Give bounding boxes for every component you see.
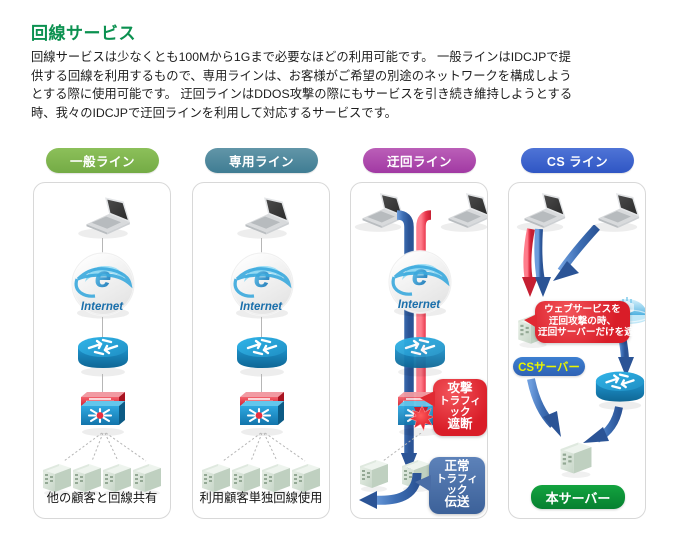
switch-icon [75,389,131,437]
column-header-bypass[interactable]: 迂回ライン [363,148,476,173]
column-headers: 一般ライン 専用ライン 迂回ライン CS ライン [0,148,680,174]
intro-paragraph: 回線サービスは少なくとも100Mから1Gまで必要なほどの利用可能です。 一般ライ… [31,48,581,122]
laptop-icon [72,195,134,241]
callout-line-1: ウェブサービスを [538,304,627,316]
callout-bypass-block-notice: ウェブサービスを 迂回攻撃の時、 迂回サーバーだけを遮断 [535,301,630,343]
block-burst-icon [409,405,435,431]
laptop-icon [231,195,293,241]
column-header-general[interactable]: 一般ライン [46,148,159,173]
callout-line-2: トラフィック [437,396,483,419]
router-icon [392,335,448,377]
column-header-cs[interactable]: CS ライン [521,148,634,173]
column-header-dedicated[interactable]: 専用ライン [205,148,318,173]
callout-line-2: 迂回攻撃の時、 [538,316,627,328]
panel-cs-line: ウェブサービスを 迂回攻撃の時、 迂回サーバーだけを遮断 CSサーバー 本サーバ… [508,182,646,519]
router-icon [234,335,290,377]
main-server-tag[interactable]: 本サーバー [531,485,625,509]
cs-server-tag[interactable]: CSサーバー [513,357,585,376]
callout-line-3: 迂回サーバーだけを遮断 [538,327,627,339]
link-internet-to-router [261,317,262,337]
callout-line-3: 伝送 [433,496,481,510]
normal-flow-arrow-diagonal [539,225,609,305]
link-internet-to-router [102,317,103,337]
internet-label: Internet [351,299,487,311]
line-service-page: 回線サービス 回線サービスは少なくとも100Mから1Gまで必要なほどの利用可能で… [0,0,680,555]
callout-line-3: 遮断 [437,418,483,432]
server-icon [557,437,595,479]
switch-icon [234,389,290,437]
internet-label: Internet [193,301,329,313]
panel-caption: 利用顧客単独回線使用 [193,488,329,506]
panel-general-line: Internet 他の顧客と回線共有 [33,182,171,519]
callout-line-1: 攻撃 [437,382,483,396]
callout-line-2: トラフィック [433,474,481,497]
page-title: 回線サービス [31,19,136,44]
internet-label: Internet [34,301,170,313]
panel-dedicated-line: Internet 利用顧客単独回線使用 [192,182,330,519]
router-icon [75,335,131,377]
panel-caption: 他の顧客と回線共有 [34,488,170,506]
panel-bypass-line: Internet 攻撃 トラフィック 遮断 正常 [350,182,488,519]
callout-line-1: 正常 [433,460,481,474]
callout-attack-traffic-blocked: 攻撃 トラフィック 遮断 [433,379,487,436]
callout-normal-traffic-forward: 正常 トラフィック 伝送 [429,457,485,514]
